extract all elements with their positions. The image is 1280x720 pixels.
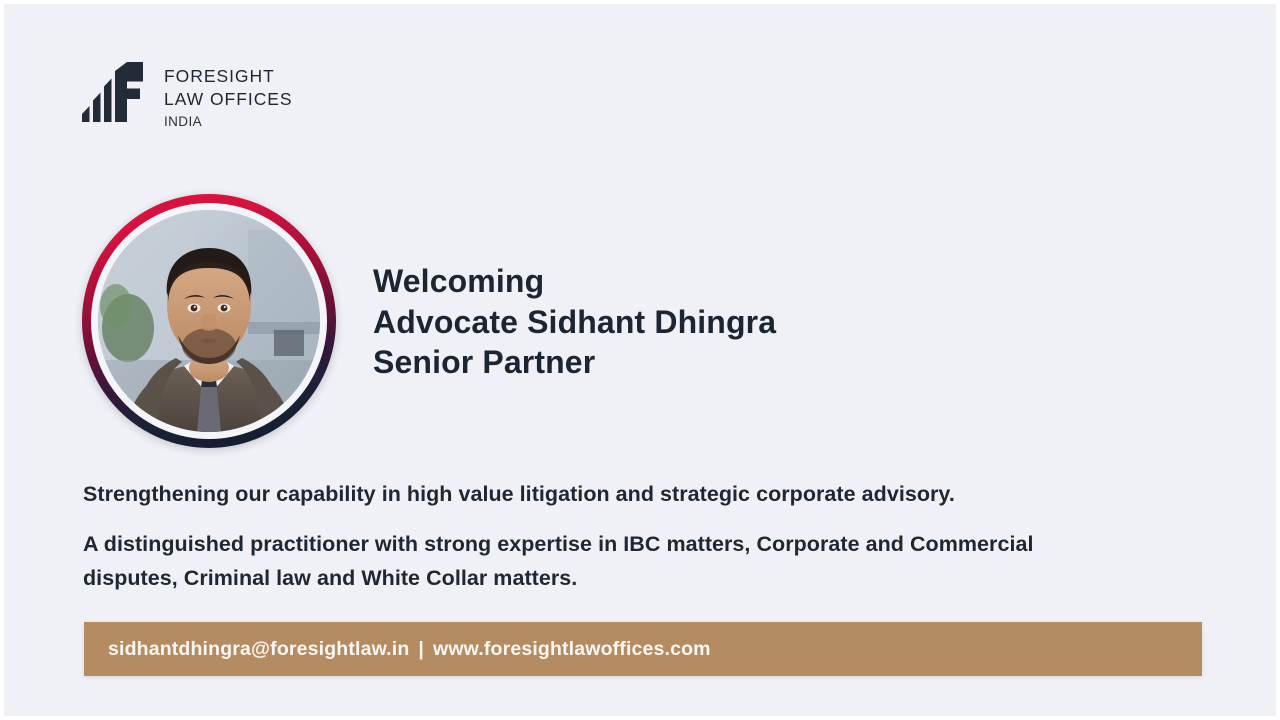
contact-bar: sidhantdhingra@foresightlaw.in|www.fores… [84,622,1202,676]
brand-name-block: FORESIGHT LAW OFFICES INDIA [164,62,293,132]
body-paragraph-1: Strengthening our capability in high val… [83,477,1193,511]
brand-name-line1: FORESIGHT [164,65,293,88]
headline-line-2: Advocate Sidhant Dhingra [373,302,1073,343]
brand-logo[interactable]: FORESIGHT LAW OFFICES INDIA [82,62,293,132]
contact-website[interactable]: www.foresightlawoffices.com [433,638,711,660]
portrait-photo-illustration [98,210,320,432]
contact-email[interactable]: sidhantdhingra@foresightlaw.in [108,638,409,660]
contact-details: sidhantdhingra@foresightlaw.in|www.fores… [108,638,711,661]
portrait-photo [98,210,320,432]
body-paragraph-2: A distinguished practitioner with strong… [83,527,1103,595]
brand-name-line2: LAW OFFICES [164,88,293,111]
contact-separator: | [409,638,433,661]
brand-region-label: INDIA [164,112,293,132]
foresight-f-monogram-icon [82,62,144,122]
headline-line-3: Senior Partner [373,342,1073,383]
portrait [82,194,336,448]
headline-line-1: Welcoming [373,261,1073,302]
announcement-card: FORESIGHT LAW OFFICES INDIA [0,0,1280,720]
headline-block: Welcoming Advocate Sidhant Dhingra Senio… [373,261,1073,383]
body-copy-block: Strengthening our capability in high val… [83,477,1193,595]
